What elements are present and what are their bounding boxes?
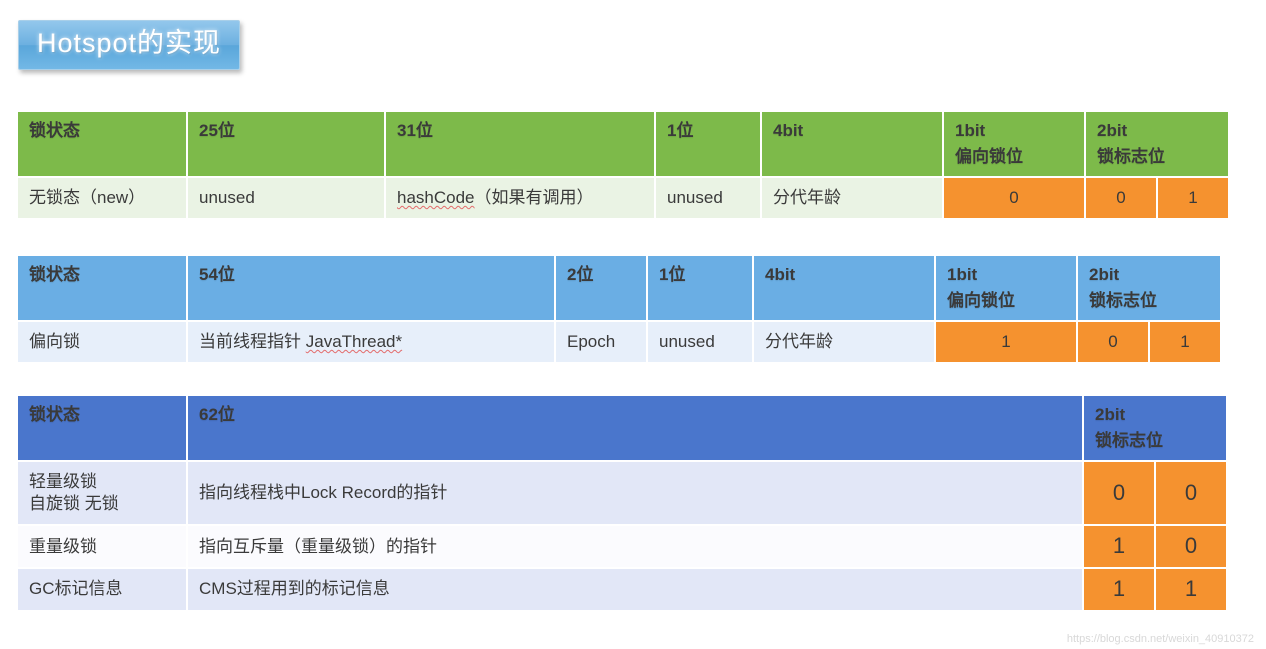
cell-pointer-description: 指向互斥量（重量级锁）的指针 [188, 526, 1082, 567]
table-row: 轻量级锁 自旋锁 无锁 指向线程栈中Lock Record的指针 0 0 [18, 462, 1226, 524]
header-lock-state: 锁状态 [18, 112, 186, 176]
header-bits-4: 4bit [754, 256, 934, 320]
markword-table-biased-lock: 锁状态 54位 2位 1位 4bit 1bit 偏向锁位 2bit 锁标志位 偏… [16, 254, 1222, 364]
header-flag-label: 锁标志位 [1089, 290, 1210, 312]
table-header-row: 锁状态 62位 2bit 锁标志位 [18, 396, 1226, 460]
cell-bias-bit-value: 1 [936, 322, 1076, 362]
header-flag-bits: 2bit [1095, 405, 1125, 424]
cell-hashcode-note: （如果有调用） [475, 188, 594, 207]
cell-javathread-text: JavaThread* [306, 332, 402, 351]
cell-lock-state: 轻量级锁 自旋锁 无锁 [18, 462, 186, 524]
cell-flag-bit-1: 0 [1084, 462, 1154, 524]
cell-bits-31: hashCode（如果有调用） [386, 178, 654, 218]
header-bits-31: 31位 [386, 112, 654, 176]
table-row: 重量级锁 指向互斥量（重量级锁）的指针 1 0 [18, 526, 1226, 567]
slide-title-box: Hotspot的实现 [18, 20, 240, 70]
cell-thread-pointer-prefix: 当前线程指针 [199, 332, 306, 351]
cell-lock-state: 重量级锁 [18, 526, 186, 567]
header-lock-state: 锁状态 [18, 256, 186, 320]
cell-lock-state: 无锁态（new） [18, 178, 186, 218]
page-title: Hotspot的实现 [37, 29, 221, 59]
header-bias-bits: 1bit [947, 265, 977, 284]
cell-lock-state: 偏向锁 [18, 322, 186, 362]
header-bias-label: 偏向锁位 [947, 290, 1066, 312]
cell-lock-state-line2: 自旋锁 无锁 [29, 493, 175, 515]
header-flag-label: 锁标志位 [1097, 146, 1218, 168]
cell-epoch: Epoch [556, 322, 646, 362]
cell-flag-bit-1: 1 [1084, 569, 1154, 610]
table-header-row: 锁状态 25位 31位 1位 4bit 1bit 偏向锁位 2bit 锁标志位 [18, 112, 1228, 176]
cell-flag-bit-1: 1 [1084, 526, 1154, 567]
cell-flag-bit-1: 0 [1078, 322, 1148, 362]
cell-thread-pointer: 当前线程指针 JavaThread* [188, 322, 554, 362]
cell-bits-4: 分代年龄 [762, 178, 942, 218]
header-bits-62: 62位 [188, 396, 1082, 460]
cell-flag-bit-2: 0 [1156, 462, 1226, 524]
header-bits-4: 4bit [762, 112, 942, 176]
header-flag-bits: 2bit [1097, 121, 1127, 140]
header-flag-label: 锁标志位 [1095, 430, 1216, 452]
cell-lock-state-line1: 轻量级锁 [29, 471, 175, 493]
cell-pointer-description: 指向线程栈中Lock Record的指针 [188, 462, 1082, 524]
cell-bits-1: unused [648, 322, 752, 362]
watermark: https://blog.csdn.net/weixin_40910372 [1067, 633, 1254, 645]
table-row: GC标记信息 CMS过程用到的标记信息 1 1 [18, 569, 1226, 610]
cell-bits-4: 分代年龄 [754, 322, 934, 362]
cell-flag-bit-2: 1 [1150, 322, 1220, 362]
header-bias-label: 偏向锁位 [955, 146, 1074, 168]
cell-flag-bit-2: 1 [1158, 178, 1228, 218]
cell-lock-state: GC标记信息 [18, 569, 186, 610]
header-bias-lock-bit: 1bit 偏向锁位 [936, 256, 1076, 320]
cell-pointer-description: CMS过程用到的标记信息 [188, 569, 1082, 610]
header-bias-bits: 1bit [955, 121, 985, 140]
markword-table-no-lock: 锁状态 25位 31位 1位 4bit 1bit 偏向锁位 2bit 锁标志位 … [16, 110, 1230, 220]
markword-table-lightweight-heavyweight: 锁状态 62位 2bit 锁标志位 轻量级锁 自旋锁 无锁 指向线程栈中Lock… [16, 394, 1228, 612]
header-bits-54: 54位 [188, 256, 554, 320]
cell-bits-25: unused [188, 178, 384, 218]
table-row: 偏向锁 当前线程指针 JavaThread* Epoch unused 分代年龄… [18, 322, 1220, 362]
table-header-row: 锁状态 54位 2位 1位 4bit 1bit 偏向锁位 2bit 锁标志位 [18, 256, 1220, 320]
header-bits-1: 1位 [648, 256, 752, 320]
header-bits-1: 1位 [656, 112, 760, 176]
cell-flag-bit-2: 0 [1156, 526, 1226, 567]
cell-flag-bit-1: 0 [1086, 178, 1156, 218]
header-bits-2: 2位 [556, 256, 646, 320]
cell-hashcode-text: hashCode [397, 188, 475, 207]
header-bias-lock-bit: 1bit 偏向锁位 [944, 112, 1084, 176]
header-bits-25: 25位 [188, 112, 384, 176]
cell-flag-bit-2: 1 [1156, 569, 1226, 610]
table-row: 无锁态（new） unused hashCode（如果有调用） unused 分… [18, 178, 1228, 218]
header-lock-flag-bits: 2bit 锁标志位 [1086, 112, 1228, 176]
header-lock-flag-bits: 2bit 锁标志位 [1078, 256, 1220, 320]
header-flag-bits: 2bit [1089, 265, 1119, 284]
cell-bits-1: unused [656, 178, 760, 218]
header-lock-state: 锁状态 [18, 396, 186, 460]
header-lock-flag-bits: 2bit 锁标志位 [1084, 396, 1226, 460]
cell-bias-bit-value: 0 [944, 178, 1084, 218]
